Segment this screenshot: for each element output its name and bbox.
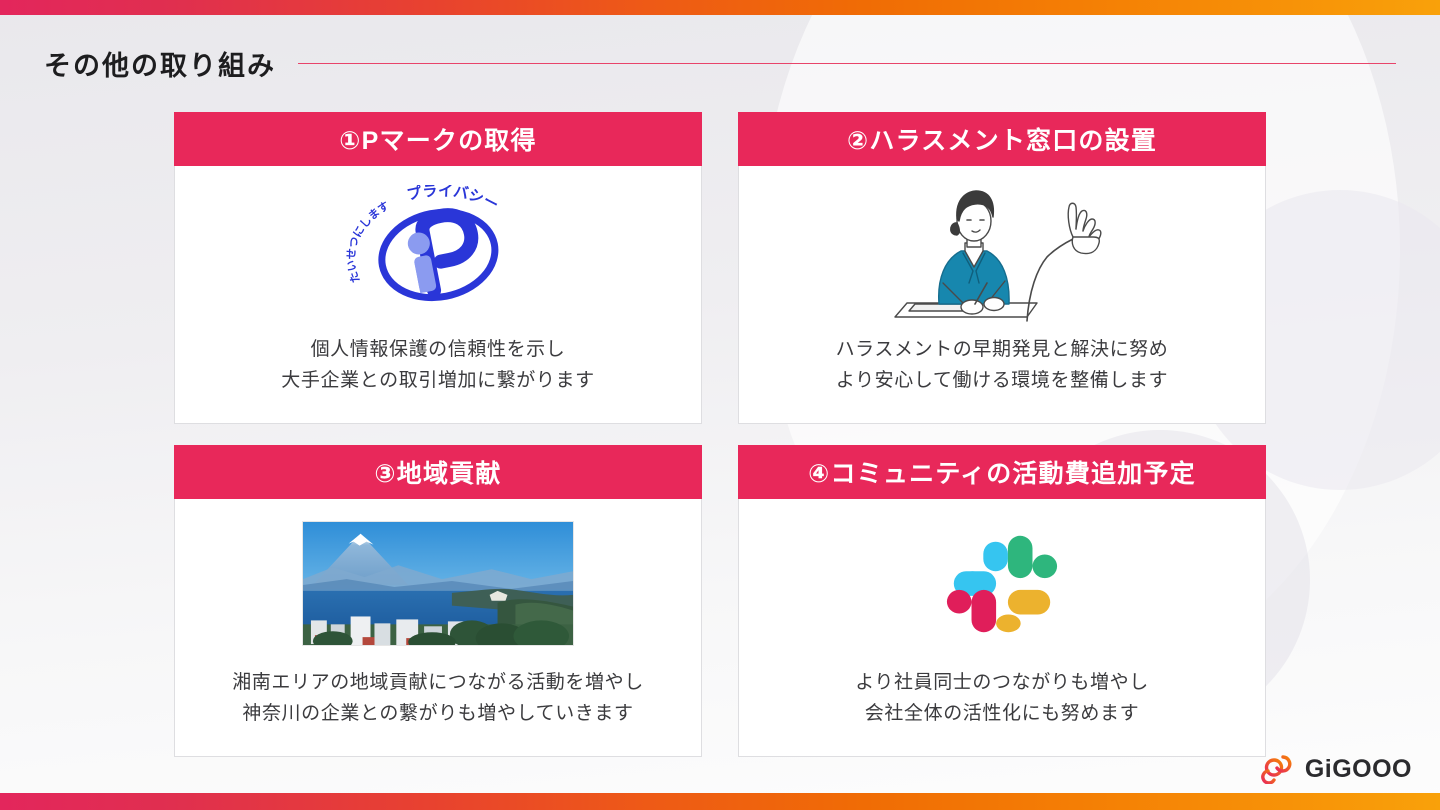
card-harassment-caption-line1: ハラスメントの早期発見と解決に努め <box>836 335 1169 366</box>
privacy-mark-icon: たいせつにします プライバシー <box>343 185 533 317</box>
top-gradient-bar <box>0 0 1440 15</box>
card-community-budget-visual <box>739 499 1265 668</box>
card-pmark-caption-line2: 大手企業との取引増加に繋がります <box>281 366 594 397</box>
card-community-budget-header: ④コミュニティの活動費追加予定 <box>738 445 1266 499</box>
card-pmark-body: たいせつにします プライバシー 個人情報保護の信頼性を示し 大手企業との取引増加… <box>174 166 702 424</box>
card-pmark-caption-line1: 個人情報保護の信頼性を示し <box>281 335 594 366</box>
slack-logo-icon <box>942 524 1062 644</box>
card-harassment-caption-line2: より安心して働ける環境を整備します <box>836 366 1169 397</box>
card-pmark-visual: たいせつにします プライバシー <box>175 166 701 335</box>
card-community-contribution-caption-line1: 湘南エリアの地域貢献につながる活動を増やし <box>232 668 644 699</box>
slide-title-row: その他の取り組み <box>44 44 1396 83</box>
card-community-contribution-body: 湘南エリアの地域貢献につながる活動を増やし 神奈川の企業との繋がりも増やしていき… <box>174 499 702 757</box>
card-community-budget-caption: より社員同士のつながりも増やし 会社全体の活性化にも努めます <box>845 668 1159 756</box>
brand-logo: GiGOOO <box>1261 754 1412 784</box>
counseling-illustration-icon <box>877 171 1127 331</box>
card-pmark-caption: 個人情報保護の信頼性を示し 大手企業との取引増加に繋がります <box>271 335 604 423</box>
card-harassment-body: ハラスメントの早期発見と解決に努め より安心して働ける環境を整備します <box>738 166 1266 424</box>
card-harassment-header: ②ハラスメント窓口の設置 <box>738 112 1266 166</box>
bottom-gradient-bar <box>0 793 1440 810</box>
card-community-budget[interactable]: ④コミュニティの活動費追加予定 <box>738 445 1266 757</box>
card-pmark[interactable]: ①Pマークの取得 <box>174 112 702 424</box>
card-community-contribution-header: ③地域貢献 <box>174 445 702 499</box>
card-community-contribution-caption-line2: 神奈川の企業との繋がりも増やしていきます <box>232 699 644 730</box>
card-harassment-caption: ハラスメントの早期発見と解決に努め より安心して働ける環境を整備します <box>826 335 1179 423</box>
card-harassment[interactable]: ②ハラスメント窓口の設置 <box>738 112 1266 424</box>
card-community-contribution[interactable]: ③地域貢献 <box>174 445 702 757</box>
card-harassment-visual <box>739 166 1265 335</box>
card-community-budget-body: より社員同士のつながりも増やし 会社全体の活性化にも努めます <box>738 499 1266 757</box>
card-pmark-header: ①Pマークの取得 <box>174 112 702 166</box>
shonan-coast-photo <box>302 521 574 646</box>
initiatives-grid: ①Pマークの取得 <box>174 112 1266 757</box>
card-community-contribution-caption: 湘南エリアの地域貢献につながる活動を増やし 神奈川の企業との繋がりも増やしていき… <box>222 668 654 756</box>
card-community-budget-caption-line1: より社員同士のつながりも増やし <box>855 668 1149 699</box>
gigooo-mark-icon <box>1261 754 1295 784</box>
card-community-contribution-visual <box>175 499 701 668</box>
title-divider-rule <box>298 63 1396 65</box>
page-title: その他の取り組み <box>44 44 276 83</box>
card-community-budget-caption-line2: 会社全体の活性化にも努めます <box>855 699 1149 730</box>
brand-name: GiGOOO <box>1305 755 1412 784</box>
